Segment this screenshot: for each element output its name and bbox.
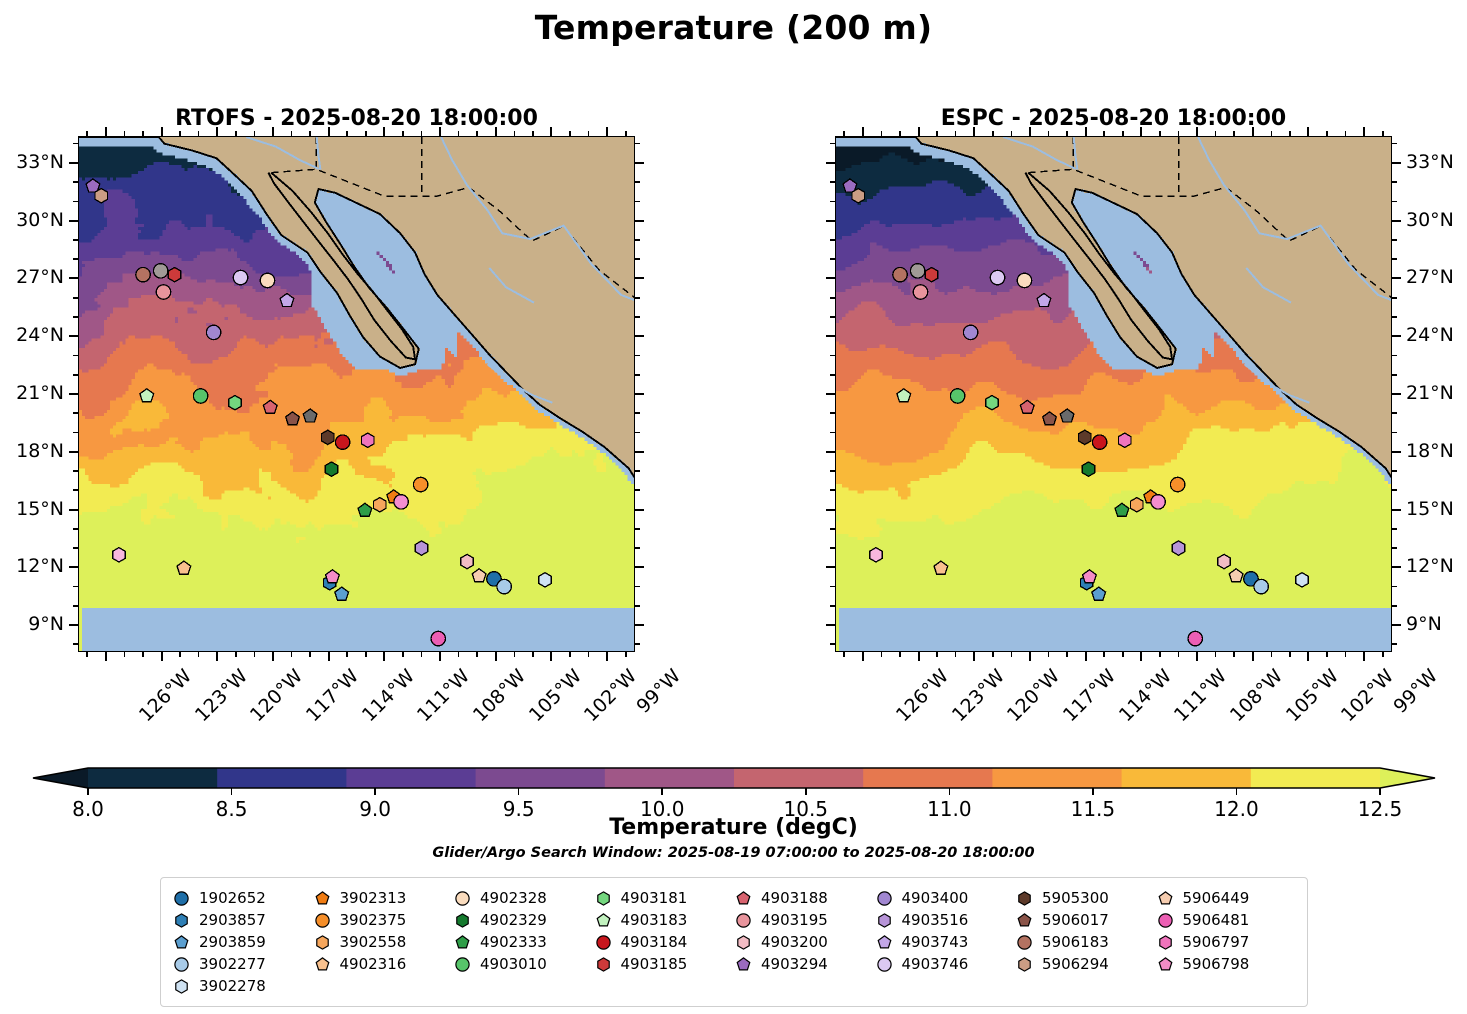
legend-item-4903185[interactable]: 4903185	[595, 953, 736, 975]
y-tick	[826, 566, 835, 568]
x-tick-label: 117°W	[1059, 665, 1120, 726]
legend-marker-circle-icon	[173, 890, 190, 907]
legend-label: 4903200	[761, 933, 828, 951]
y-tick-minor-right	[635, 412, 640, 414]
y-tick-right	[635, 451, 644, 453]
x-tick-top	[328, 127, 330, 136]
legend-label: 4903746	[902, 955, 969, 973]
x-tick-minor	[86, 131, 88, 136]
y-tick-label: 30°N	[1406, 209, 1454, 231]
colorbar-tick	[231, 788, 233, 795]
y-tick-minor-right	[635, 316, 640, 318]
platform-marker-5906800	[394, 495, 408, 509]
x-tick-minor	[881, 652, 883, 657]
map-panel-rtofs: RTOFS - 2025-08-20 18:00:00 126°W123°W12…	[78, 136, 635, 652]
x-tick-minor	[365, 652, 367, 657]
x-tick-label: 105°W	[525, 665, 586, 726]
y-tick-minor-right	[1392, 528, 1397, 530]
y-tick-minor	[830, 412, 835, 414]
legend-label: 4903183	[621, 911, 688, 929]
y-tick-minor-right	[1392, 605, 1397, 607]
x-tick-minor	[1382, 652, 1384, 657]
y-tick-right	[1392, 277, 1401, 279]
y-tick-right	[635, 509, 644, 511]
x-tick-minor	[1289, 652, 1291, 657]
x-tick-top	[1252, 127, 1254, 136]
legend-label: 3902558	[340, 933, 407, 951]
y-tick-label: 33°N	[0, 151, 64, 173]
x-tick-minor	[254, 652, 256, 657]
legend-item-2903857[interactable]: 2903857	[173, 909, 314, 931]
legend-marker-hexagon-icon	[1157, 934, 1174, 951]
platform-marker-4903184	[335, 435, 349, 449]
y-tick	[69, 393, 78, 395]
platform-marker-5905300	[322, 430, 334, 444]
y-tick-right	[1392, 566, 1401, 568]
legend-label: 4903184	[621, 933, 688, 951]
legend-marker-circle-icon	[173, 956, 190, 973]
search-window-caption: Glider/Argo Search Window: 2025-08-19 07…	[0, 845, 1467, 861]
legend-marker-pentagon-icon	[876, 934, 893, 951]
platform-marker-4903195	[156, 285, 170, 299]
x-tick	[1085, 652, 1087, 661]
legend-item-5906017[interactable]: 5906017	[1016, 909, 1157, 931]
x-tick-minor	[588, 652, 590, 657]
x-tick-minor	[198, 652, 200, 657]
map-panel-espc: ESPC - 2025-08-20 18:00:00 126°W123°W120…	[835, 136, 1392, 652]
y-tick	[826, 393, 835, 395]
x-tick-top	[216, 127, 218, 136]
y-tick-label: 12°N	[0, 555, 64, 577]
legend-marker-hexagon-icon	[314, 934, 331, 951]
x-tick-minor	[1048, 652, 1050, 657]
map-raster	[79, 137, 635, 652]
colorbar-tick	[87, 788, 89, 795]
legend-item-4902333[interactable]: 4902333	[454, 931, 595, 953]
x-tick-top	[383, 127, 385, 136]
y-tick-right	[635, 220, 644, 222]
x-tick	[1140, 652, 1142, 661]
y-tick-minor	[73, 470, 78, 472]
x-tick-minor	[1122, 131, 1124, 136]
legend-item-4903294[interactable]: 4903294	[735, 953, 876, 975]
x-tick	[439, 652, 441, 661]
y-tick-minor	[73, 586, 78, 588]
x-tick-minor	[402, 131, 404, 136]
legend-marker-hexagon-icon	[454, 912, 471, 929]
x-tick	[973, 652, 975, 661]
x-tick-minor	[532, 652, 534, 657]
platform-marker-3902375	[1170, 477, 1184, 491]
y-tick-label: 33°N	[1406, 151, 1454, 173]
legend-item-5906481[interactable]: 5906481	[1157, 909, 1298, 931]
platform-marker-3902278	[539, 573, 551, 587]
legend-item-3902313[interactable]: 3902313	[314, 887, 455, 909]
x-tick-top	[1307, 127, 1309, 136]
x-tick-top	[439, 127, 441, 136]
x-tick-minor	[1345, 652, 1347, 657]
x-tick-minor	[1011, 652, 1013, 657]
platform-marker-4903184	[1092, 435, 1106, 449]
legend-item-5906797[interactable]: 5906797	[1157, 931, 1298, 953]
x-tick-minor	[1271, 652, 1273, 657]
legend-item-5905300[interactable]: 5905300	[1016, 887, 1157, 909]
y-tick-minor-right	[635, 547, 640, 549]
x-tick-label: 117°W	[302, 665, 363, 726]
x-tick-top	[862, 127, 864, 136]
legend-label: 4902328	[480, 889, 547, 907]
legend-item-3902278[interactable]: 3902278	[173, 975, 314, 997]
y-tick-minor	[830, 547, 835, 549]
y-tick-minor	[830, 374, 835, 376]
y-tick-right	[1392, 451, 1401, 453]
y-tick-right	[635, 624, 644, 626]
platform-marker-4903400	[206, 325, 220, 339]
legend-marker-pentagon-icon	[454, 934, 471, 951]
legend-label: 5906017	[1042, 911, 1109, 929]
x-tick-label: 99°W	[1390, 665, 1443, 718]
legend-label: 5906449	[1183, 889, 1250, 907]
y-tick-minor-right	[1392, 586, 1397, 588]
y-tick-minor-right	[635, 258, 640, 260]
legend-item-4902329[interactable]: 4902329	[454, 909, 595, 931]
x-tick-minor	[86, 652, 88, 657]
legend-item-1902652[interactable]: 1902652	[173, 887, 314, 909]
legend-item-4903188[interactable]: 4903188	[735, 887, 876, 909]
x-tick	[1196, 652, 1198, 661]
y-tick	[69, 624, 78, 626]
platform-marker-4903185	[168, 267, 180, 281]
y-tick-minor	[830, 643, 835, 645]
legend-label: 1902652	[199, 889, 266, 907]
x-tick-label: 114°W	[358, 665, 419, 726]
x-tick-minor	[569, 131, 571, 136]
y-tick-label: 12°N	[1406, 555, 1454, 577]
x-tick	[1029, 652, 1031, 661]
y-tick-label: 21°N	[0, 382, 64, 404]
x-tick-minor	[179, 131, 181, 136]
x-tick	[272, 652, 274, 661]
y-tick-minor	[830, 143, 835, 145]
x-tick-minor	[142, 652, 144, 657]
map-canvas-espc[interactable]	[835, 136, 1392, 652]
legend-item-4903516[interactable]: 4903516	[876, 909, 1017, 931]
legend-marker-hexagon-icon	[173, 978, 190, 995]
x-tick	[1252, 652, 1254, 661]
platform-marker-4902329	[1082, 462, 1094, 476]
x-tick-minor	[1122, 652, 1124, 657]
legend-item-5906294[interactable]: 5906294	[1016, 953, 1157, 975]
y-tick-minor	[830, 201, 835, 203]
y-tick-minor-right	[1392, 470, 1397, 472]
legend-label: 4903195	[761, 911, 828, 929]
legend-label: 4903294	[761, 955, 828, 973]
x-tick-minor	[476, 131, 478, 136]
legend-label: 4903516	[902, 911, 969, 929]
y-tick	[69, 277, 78, 279]
colorbar-tick	[805, 788, 807, 795]
legend-label: 4902329	[480, 911, 547, 929]
x-tick-minor	[179, 652, 181, 657]
colorbar-axis-label: Temperature (degC)	[0, 815, 1467, 840]
x-tick-minor	[532, 131, 534, 136]
x-tick-minor	[588, 131, 590, 136]
x-tick-label: 108°W	[469, 665, 530, 726]
x-tick-minor	[1103, 652, 1105, 657]
legend-item-4903195[interactable]: 4903195	[735, 909, 876, 931]
y-tick-label: 9°N	[0, 613, 64, 635]
x-tick-top	[161, 127, 163, 136]
y-tick-minor	[73, 316, 78, 318]
x-tick-minor	[235, 652, 237, 657]
y-tick-minor	[830, 316, 835, 318]
x-tick-label: 105°W	[1282, 665, 1343, 726]
y-tick-minor	[830, 239, 835, 241]
legend-marker-pentagon-icon	[173, 934, 190, 951]
x-tick-minor	[843, 652, 845, 657]
y-tick	[69, 451, 78, 453]
legend-item-4903743[interactable]: 4903743	[876, 931, 1017, 953]
x-tick-minor	[1178, 652, 1180, 657]
y-tick-right	[1392, 393, 1401, 395]
page-title: Temperature (200 m)	[0, 8, 1467, 47]
legend-marker-pentagon-icon	[314, 956, 331, 973]
x-tick-minor	[124, 131, 126, 136]
legend-item-4903746[interactable]: 4903746	[876, 953, 1017, 975]
y-tick-minor	[73, 239, 78, 241]
x-tick	[383, 652, 385, 661]
x-tick-label: 126°W	[135, 665, 196, 726]
x-tick	[1363, 652, 1365, 661]
legend-marker-hexagon-icon	[595, 956, 612, 973]
x-tick-minor	[142, 131, 144, 136]
legend-item-5906183[interactable]: 5906183	[1016, 931, 1157, 953]
y-tick	[826, 220, 835, 222]
y-tick-minor-right	[1392, 201, 1397, 203]
platform-marker-4902328	[1017, 273, 1031, 287]
legend-marker-hexagon-icon	[595, 890, 612, 907]
legend-item-4903181[interactable]: 4903181	[595, 887, 736, 909]
y-tick-minor-right	[1392, 316, 1397, 318]
x-tick-label: 111°W	[1170, 665, 1231, 726]
platform-marker-3902558	[1131, 498, 1143, 512]
platform-marker-5906797	[361, 433, 373, 447]
y-tick-minor	[73, 547, 78, 549]
x-tick-minor	[402, 652, 404, 657]
platform-marker-4903010	[193, 389, 207, 403]
y-tick-minor	[73, 355, 78, 357]
colorbar-tick	[661, 788, 663, 795]
x-tick-label: 120°W	[1003, 665, 1064, 726]
y-tick-label: 18°N	[1406, 440, 1454, 462]
x-tick-minor	[291, 652, 293, 657]
colorbar-tick	[949, 788, 951, 795]
y-tick-right	[1392, 162, 1401, 164]
platform-marker-4903516	[1172, 541, 1184, 555]
x-tick	[1307, 652, 1309, 661]
x-tick-minor	[458, 652, 460, 657]
platform-marker-5906481	[431, 631, 445, 645]
y-tick-label: 24°N	[1406, 324, 1454, 346]
y-tick	[826, 277, 835, 279]
legend-marker-circle-icon	[876, 956, 893, 973]
legend-item-3902375[interactable]: 3902375	[314, 909, 455, 931]
y-tick-label: 9°N	[1406, 613, 1442, 635]
x-tick-top	[1029, 127, 1031, 136]
x-tick-minor	[992, 131, 994, 136]
y-tick	[69, 335, 78, 337]
map-canvas-rtofs[interactable]	[78, 136, 635, 652]
y-tick-minor-right	[635, 643, 640, 645]
y-tick-label: 24°N	[0, 324, 64, 346]
y-tick-minor-right	[1392, 374, 1397, 376]
y-tick	[69, 220, 78, 222]
legend-label: 5905300	[1042, 889, 1109, 907]
legend-item-5906449[interactable]: 5906449	[1157, 887, 1298, 909]
platform-marker-4903010	[950, 389, 964, 403]
x-tick-minor	[1345, 131, 1347, 136]
colorbar-tick	[374, 788, 376, 795]
x-tick-minor	[291, 131, 293, 136]
x-tick-top	[550, 127, 552, 136]
x-tick-minor	[936, 652, 938, 657]
x-tick-label: 102°W	[580, 665, 641, 726]
x-tick-minor	[1382, 131, 1384, 136]
legend-label: 5906481	[1183, 911, 1250, 929]
legend-marker-hexagon-icon	[735, 934, 752, 951]
x-tick-minor	[955, 131, 957, 136]
y-tick-right	[635, 162, 644, 164]
legend-marker-pentagon-icon	[735, 890, 752, 907]
y-tick-minor-right	[1392, 547, 1397, 549]
x-tick-top	[1140, 127, 1142, 136]
y-tick-label: 15°N	[0, 498, 64, 520]
platform-marker-5906183	[893, 267, 907, 281]
x-tick-label: 114°W	[1115, 665, 1176, 726]
y-tick-minor	[830, 297, 835, 299]
y-tick-minor-right	[1392, 143, 1397, 145]
y-tick-minor	[73, 643, 78, 645]
x-tick-label: 123°W	[947, 665, 1008, 726]
platform-marker-7901100	[153, 264, 167, 278]
y-tick-minor	[73, 412, 78, 414]
y-tick-minor-right	[635, 201, 640, 203]
x-tick-label: 108°W	[1226, 665, 1287, 726]
map-raster	[836, 137, 1392, 652]
legend-label: 4902333	[480, 933, 547, 951]
x-tick-minor	[1048, 131, 1050, 136]
y-tick	[826, 509, 835, 511]
x-tick-minor	[514, 131, 516, 136]
platform-marker-4903195	[913, 285, 927, 299]
y-tick-minor	[73, 258, 78, 260]
y-tick-minor	[73, 528, 78, 530]
legend-marker-circle-icon	[314, 912, 331, 929]
y-tick	[69, 566, 78, 568]
legend-item-4903183[interactable]: 4903183	[595, 909, 736, 931]
x-tick-top	[1363, 127, 1365, 136]
legend-item-4903400[interactable]: 4903400	[876, 887, 1017, 909]
platform-marker-5906797	[1118, 433, 1130, 447]
x-tick-minor	[1326, 652, 1328, 657]
y-tick-minor	[830, 258, 835, 260]
y-tick-minor-right	[1392, 239, 1397, 241]
legend-item-4902316[interactable]: 4902316	[314, 953, 455, 975]
x-tick-minor	[1159, 131, 1161, 136]
x-tick-minor	[843, 131, 845, 136]
legend-item-2903859[interactable]: 2903859	[173, 931, 314, 953]
y-tick-minor	[73, 143, 78, 145]
x-tick-minor	[569, 652, 571, 657]
legend-item-4903184[interactable]: 4903184	[595, 931, 736, 953]
y-tick-right	[1392, 509, 1401, 511]
legend-label: 4902316	[340, 955, 407, 973]
x-tick-minor	[625, 652, 627, 657]
x-tick-minor	[309, 652, 311, 657]
x-tick-minor	[1233, 652, 1235, 657]
x-tick-minor	[992, 652, 994, 657]
x-tick-minor	[458, 131, 460, 136]
y-tick-right	[1392, 624, 1401, 626]
y-tick	[826, 162, 835, 164]
x-tick-label: 111°W	[413, 665, 474, 726]
legend-marker-pentagon-icon	[1157, 956, 1174, 973]
y-tick-minor	[73, 432, 78, 434]
y-tick-label: 27°N	[0, 266, 64, 288]
colorbar-tick	[1379, 788, 1381, 795]
x-tick-label: 123°W	[190, 665, 251, 726]
y-tick-minor-right	[635, 470, 640, 472]
y-tick-minor-right	[1392, 489, 1397, 491]
x-tick-top	[606, 127, 608, 136]
y-tick-minor-right	[635, 181, 640, 183]
legend-item-4902328[interactable]: 4902328	[454, 887, 595, 909]
platform-marker-5905300	[1079, 430, 1091, 444]
y-tick-right	[635, 566, 644, 568]
x-tick-minor	[1178, 131, 1180, 136]
platform-marker-4903185	[925, 267, 937, 281]
y-tick	[69, 162, 78, 164]
platform-marker-5906294	[95, 189, 107, 203]
legend-marker-hexagon-icon	[1016, 890, 1033, 907]
y-tick	[826, 451, 835, 453]
x-tick-minor	[346, 652, 348, 657]
legend-item-5906798[interactable]: 5906798	[1157, 953, 1298, 975]
x-tick-minor	[625, 131, 627, 136]
legend-label: 4903181	[621, 889, 688, 907]
legend-item-4903010[interactable]: 4903010	[454, 953, 595, 975]
y-tick-minor	[830, 605, 835, 607]
legend-marker-hexagon-icon	[173, 912, 190, 929]
y-tick-minor-right	[635, 143, 640, 145]
platform-marker-5906481	[1188, 631, 1202, 645]
x-tick-minor	[899, 652, 901, 657]
x-tick	[606, 652, 608, 661]
platform-marker-3902278	[1296, 573, 1308, 587]
legend-item-3902558[interactable]: 3902558	[314, 931, 455, 953]
legend-item-4903200[interactable]: 4903200	[735, 931, 876, 953]
legend-label: 4903188	[761, 889, 828, 907]
y-tick-label: 15°N	[1406, 498, 1454, 520]
legend-label: 5906183	[1042, 933, 1109, 951]
legend-marker-circle-icon	[454, 890, 471, 907]
y-tick-right	[1392, 335, 1401, 337]
platform-legend: 1902652290385729038593902277390227839023…	[160, 877, 1308, 1007]
y-tick	[826, 624, 835, 626]
platform-marker-4902329	[325, 462, 337, 476]
legend-item-3902277[interactable]: 3902277	[173, 953, 314, 975]
x-tick-minor	[235, 131, 237, 136]
